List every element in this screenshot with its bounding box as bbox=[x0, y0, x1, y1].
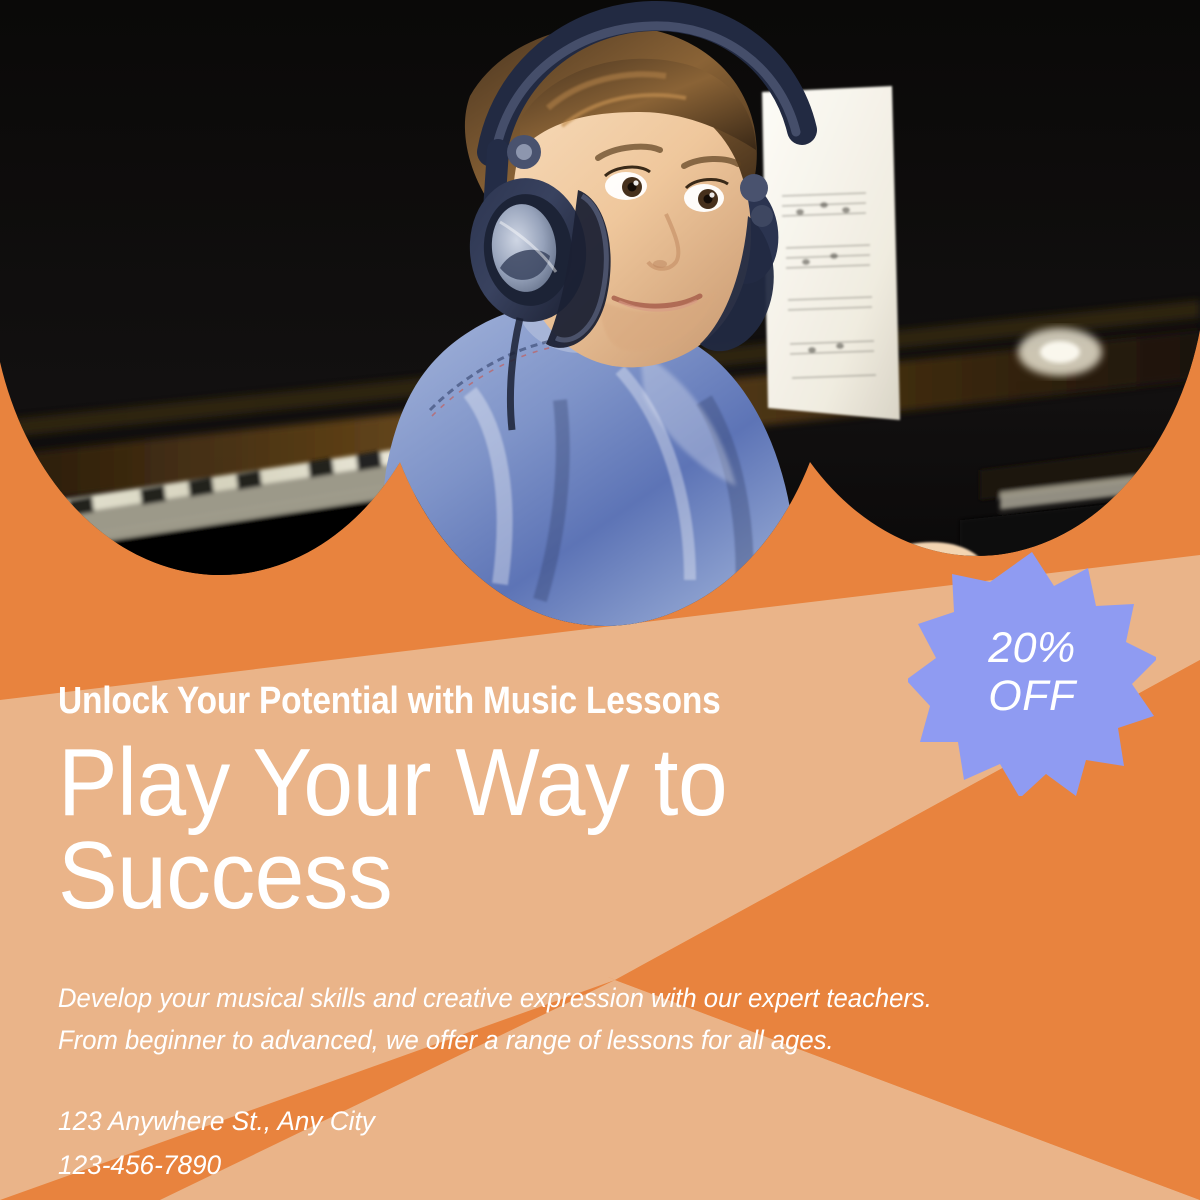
poster-canvas: Unlock Your Potential with Music Lessons… bbox=[0, 0, 1200, 1200]
body-copy: Develop your musical skills and creative… bbox=[58, 978, 1094, 1062]
eyebrow-text: Unlock Your Potential with Music Lessons bbox=[58, 660, 1017, 722]
page-title: Play Your Way to Success bbox=[58, 736, 876, 922]
contact-info: 123 Anywhere St., Any City 123-456-7890 bbox=[58, 1100, 1115, 1187]
discount-badge[interactable]: 20% OFF bbox=[908, 548, 1156, 796]
contact-address[interactable]: 123 Anywhere St., Any City bbox=[58, 1100, 1115, 1144]
body-copy-line-1: Develop your musical skills and creative… bbox=[58, 978, 1094, 1020]
body-copy-line-2: From beginner to advanced, we offer a ra… bbox=[58, 1020, 1094, 1062]
contact-phone[interactable]: 123-456-7890 bbox=[58, 1144, 1115, 1188]
starburst-icon bbox=[908, 548, 1156, 796]
